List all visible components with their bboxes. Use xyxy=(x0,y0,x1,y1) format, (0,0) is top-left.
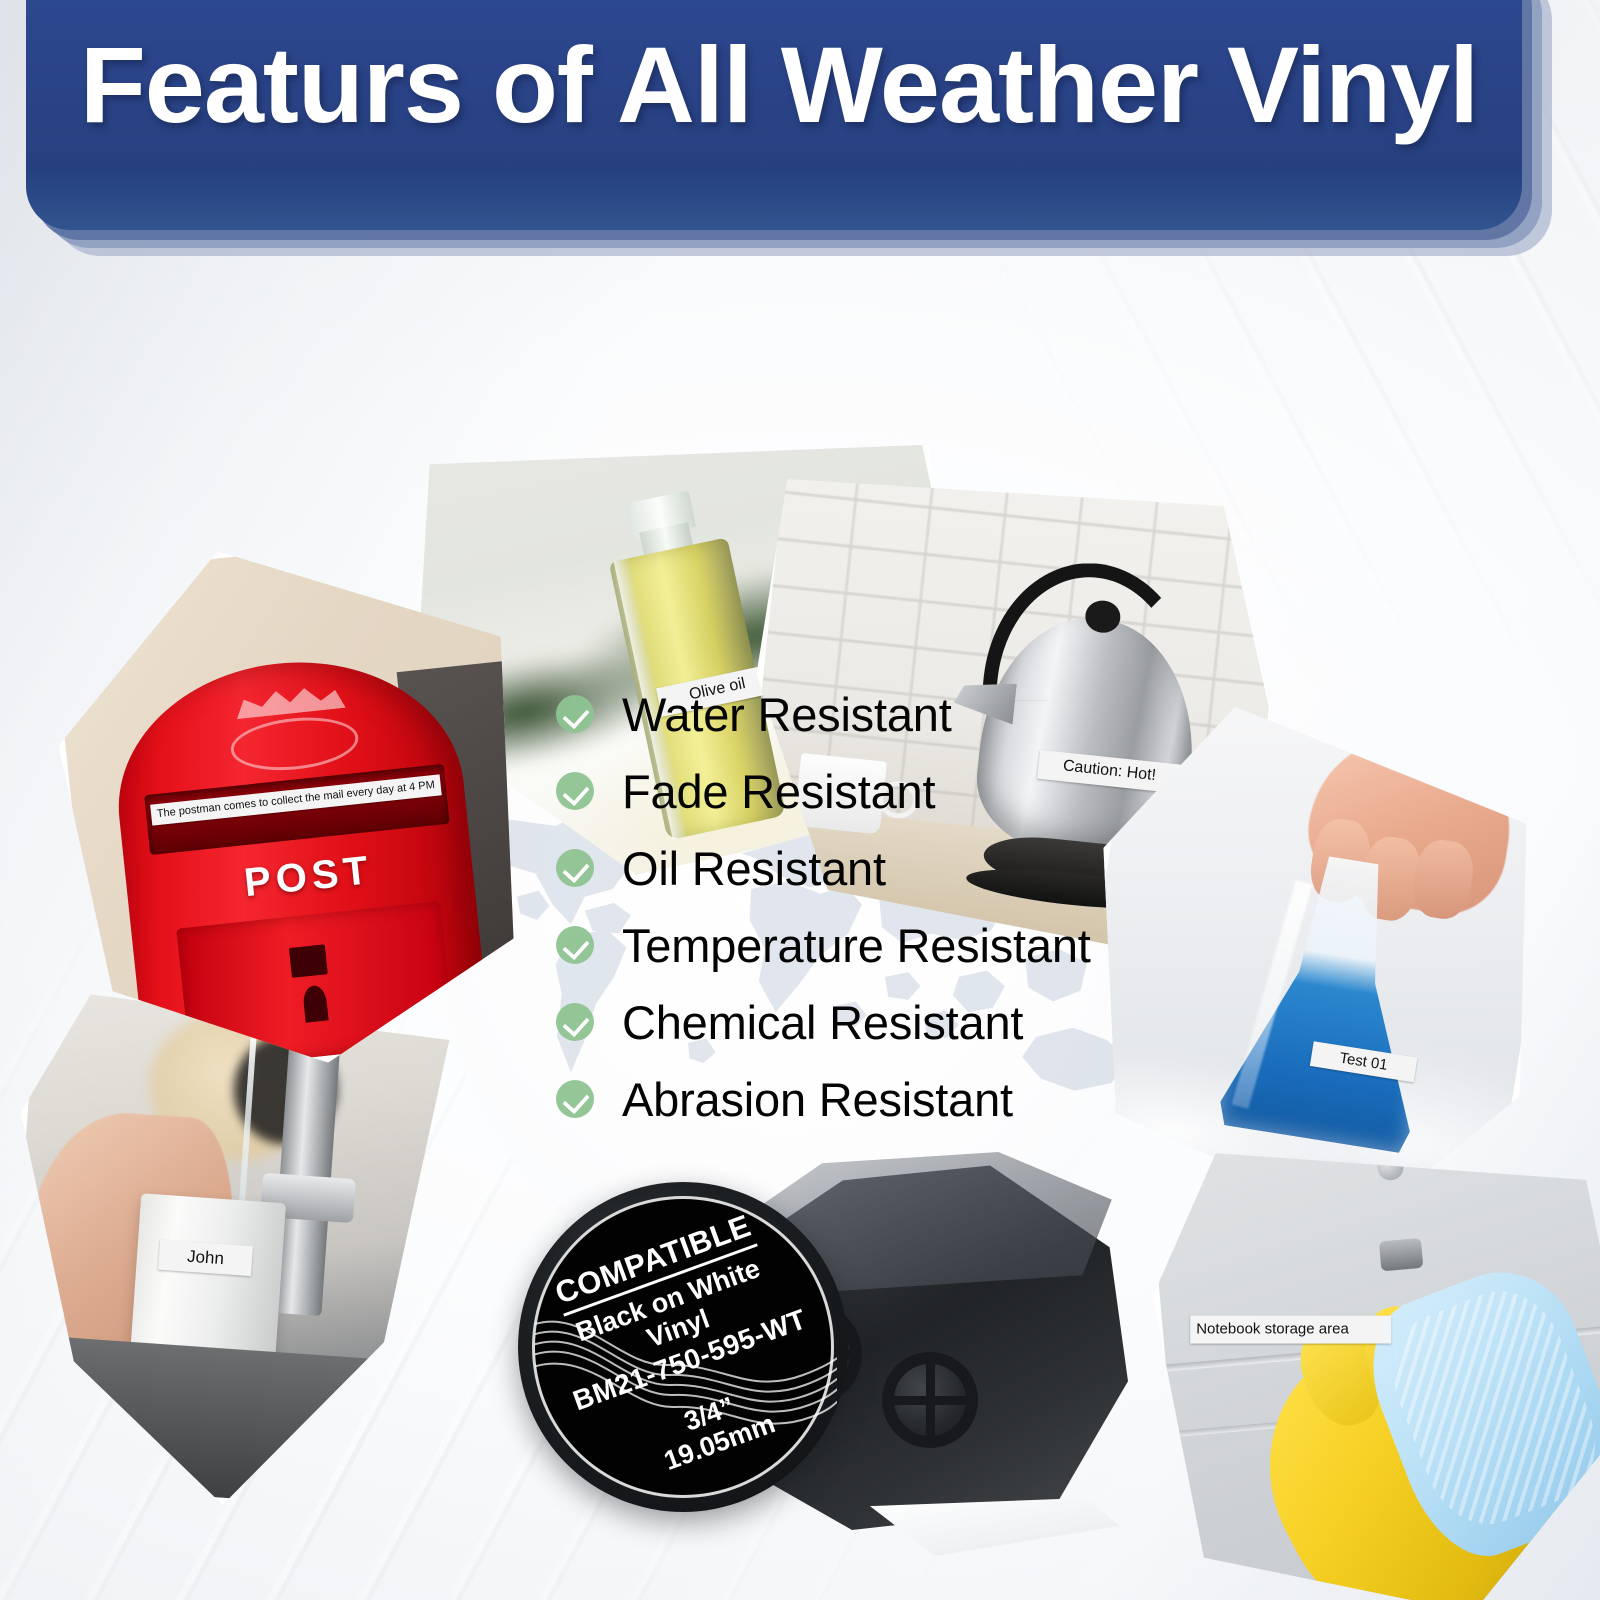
check-circle-icon xyxy=(556,926,594,964)
photo-label-john: John xyxy=(158,1240,254,1277)
check-circle-icon xyxy=(556,1080,594,1118)
feature-item-temperature: Temperature Resistant xyxy=(556,907,1196,983)
feature-item-oil: Oil Resistant xyxy=(556,830,1196,906)
check-circle-icon xyxy=(556,849,594,887)
check-circle-icon xyxy=(556,695,594,733)
check-circle-icon xyxy=(556,772,594,810)
feature-label: Temperature Resistant xyxy=(622,918,1091,973)
cartridge-spool-hub-small xyxy=(882,1352,978,1448)
cartridge-label-face: COMPATIBLE Black on White Vinyl BM21-750… xyxy=(532,1196,834,1498)
feature-item-water: Water Resistant xyxy=(556,676,1196,752)
feature-item-abrasion: Abrasion Resistant xyxy=(556,1061,1196,1137)
cartridge-label-disc: COMPATIBLE Black on White Vinyl BM21-750… xyxy=(518,1182,848,1512)
feature-label: Abrasion Resistant xyxy=(622,1072,1013,1127)
photo-label-notebook-storage: Notebook storage area xyxy=(1191,1316,1392,1344)
feature-item-chemical: Chemical Resistant xyxy=(556,984,1196,1060)
feature-label: Chemical Resistant xyxy=(622,995,1023,1050)
feature-list: Water Resistant Fade Resistant Oil Resis… xyxy=(556,676,1196,1138)
check-circle-icon xyxy=(556,1003,594,1041)
feature-label: Fade Resistant xyxy=(622,764,935,819)
feature-label: Water Resistant xyxy=(622,687,952,742)
cartridge-label-text: COMPATIBLE Black on White Vinyl BM21-750… xyxy=(518,1182,848,1512)
cartridge-tape-tail xyxy=(870,1498,1120,1556)
product-cartridge: COMPATIBLE Black on White Vinyl BM21-750… xyxy=(500,1130,1140,1600)
feature-item-fade: Fade Resistant xyxy=(556,753,1196,829)
feature-label: Oil Resistant xyxy=(622,841,886,896)
